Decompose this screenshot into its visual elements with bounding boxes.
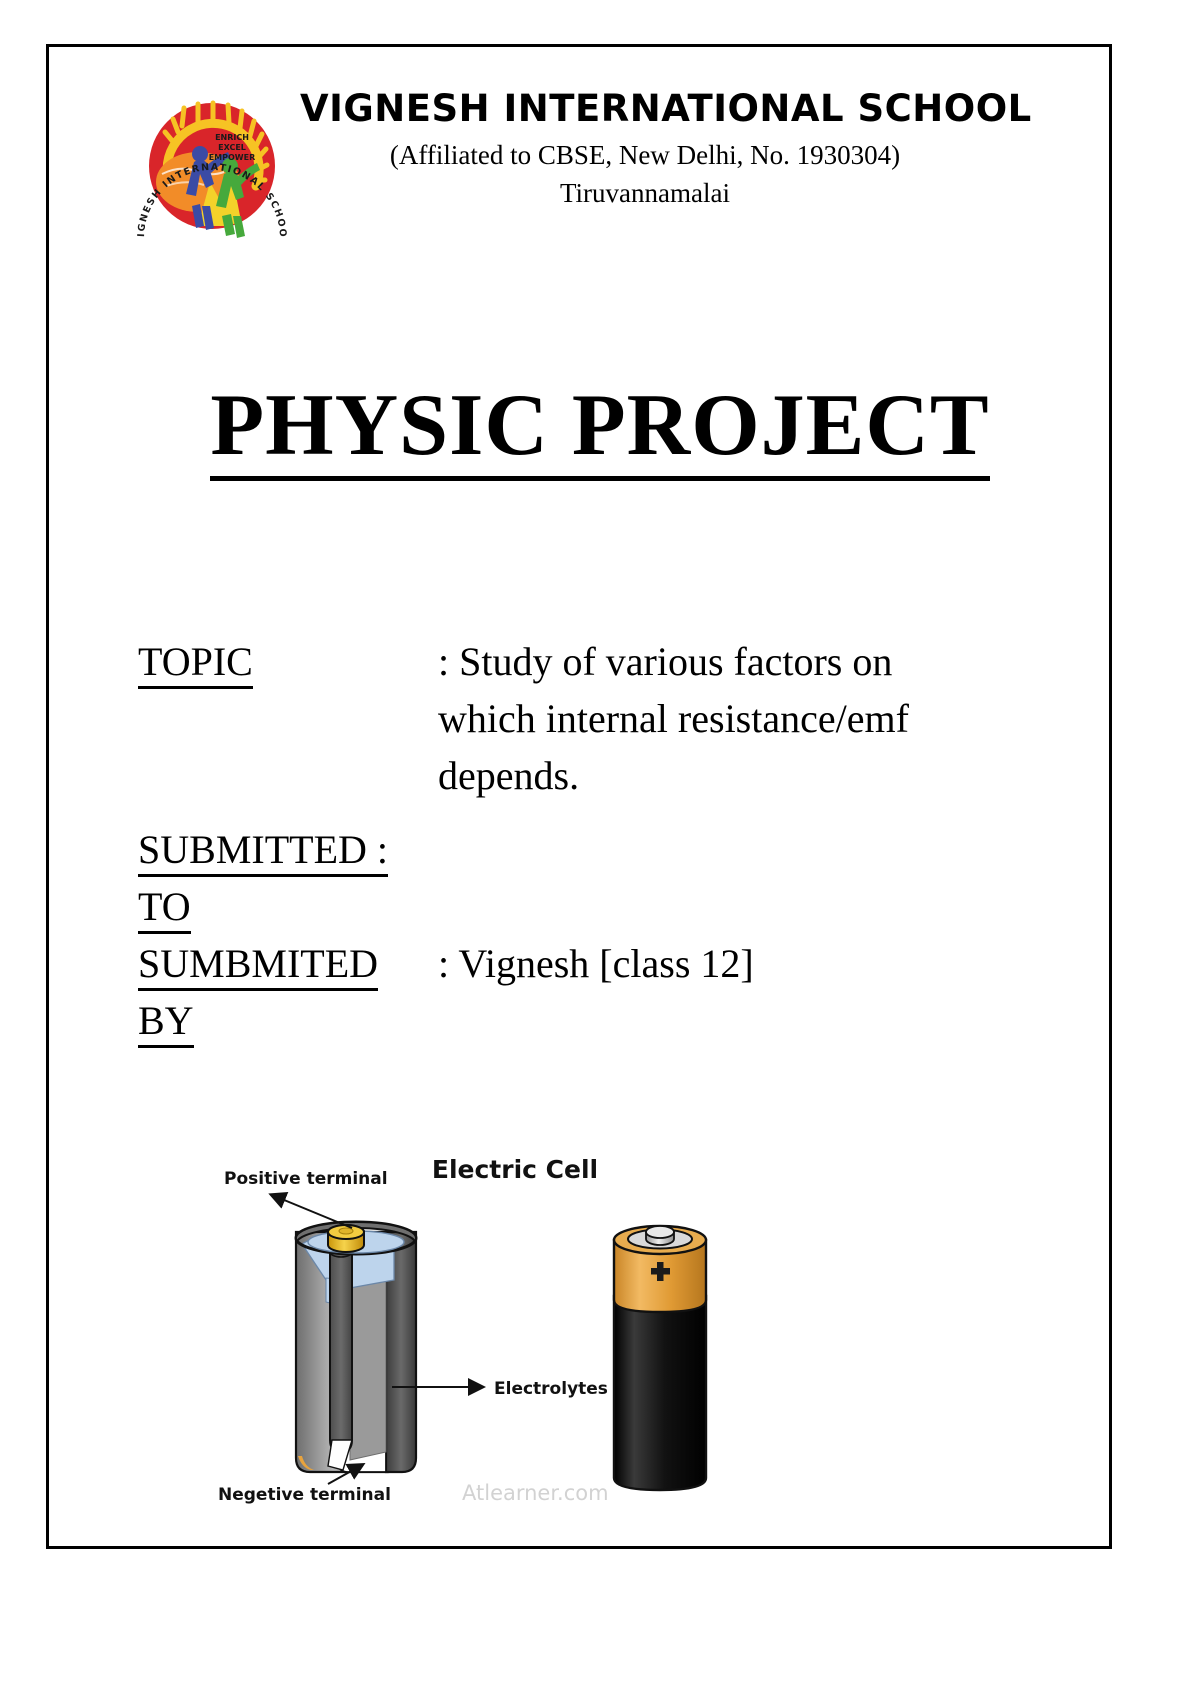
topic-label-wrap: TOPIC: [138, 634, 438, 691]
topic-label: TOPIC: [138, 639, 253, 689]
topic-value-line-1: : Study of various factors on: [438, 634, 1038, 691]
battery-illustration: [614, 1226, 706, 1490]
topic-value: : Study of various factors on which inte…: [438, 634, 1038, 804]
figure-watermark: Atlearner.com: [462, 1481, 609, 1505]
document-title: PHYSIC PROJECT: [0, 380, 1200, 472]
callout-positive-terminal: Positive terminal: [224, 1169, 388, 1228]
cover-fields: TOPIC : Study of various factors on whic…: [138, 634, 1038, 1050]
school-letterhead: ENRICH EXCEL EMPOWER VIGNESH INTERNATION…: [90, 78, 990, 258]
school-logo-icon: ENRICH EXCEL EMPOWER VIGNESH INTERNATION…: [132, 86, 292, 246]
submitted-by-label-line-2: BY: [138, 998, 194, 1048]
spacer: [138, 804, 1038, 822]
cutaway-cell-illustration: [296, 1222, 416, 1472]
submitted-by-label-line-1: SUMBMITED: [138, 941, 378, 991]
submitted-by-label-wrap-2: BY: [138, 993, 194, 1050]
school-city: Tiruvannamalai: [300, 175, 990, 211]
callout-electrolytes: Electrolytes: [392, 1379, 608, 1399]
field-row-submitted-to-1: SUBMITTED :: [138, 822, 1038, 879]
field-row-submitted-by-1: SUMBMITED : Vignesh [class 12]: [138, 936, 1038, 993]
submitted-to-label-line-2: TO: [138, 884, 191, 934]
electric-cell-figure: Electric Cell: [210, 1140, 830, 1515]
school-text-block: VIGNESH INTERNATIONAL SCHOOL (Affiliated…: [300, 88, 990, 211]
field-row-submitted-by-2: BY: [138, 993, 1038, 1050]
topic-value-line-2: which internal resistance/emf: [438, 691, 1038, 748]
submitted-to-label-wrap-2: TO: [138, 879, 191, 936]
label-negative-terminal: Negetive terminal: [218, 1485, 391, 1505]
field-row-submitted-to-2: TO: [138, 879, 1038, 936]
topic-value-line-3: depends.: [438, 748, 1038, 805]
label-positive-terminal: Positive terminal: [224, 1169, 388, 1189]
school-affiliation: (Affiliated to CBSE, New Delhi, No. 1930…: [300, 137, 990, 173]
svg-text:EMPOWER: EMPOWER: [209, 153, 256, 162]
svg-text:ENRICH: ENRICH: [215, 133, 249, 142]
label-electrolytes: Electrolytes: [494, 1379, 608, 1399]
submitted-by-label-wrap-1: SUMBMITED: [138, 936, 438, 993]
figure-title: Electric Cell: [432, 1155, 598, 1184]
document-page: ENRICH EXCEL EMPOWER VIGNESH INTERNATION…: [0, 0, 1200, 1698]
submitted-by-value: : Vignesh [class 12]: [438, 936, 1038, 993]
document-title-text: PHYSIC PROJECT: [210, 377, 989, 481]
field-row-topic: TOPIC : Study of various factors on whic…: [138, 634, 1038, 804]
school-name: VIGNESH INTERNATIONAL SCHOOL: [300, 88, 990, 131]
svg-text:EXCEL: EXCEL: [218, 143, 246, 152]
submitted-to-label-line-1: SUBMITTED :: [138, 827, 388, 877]
submitted-to-label-wrap-1: SUBMITTED :: [138, 822, 388, 879]
